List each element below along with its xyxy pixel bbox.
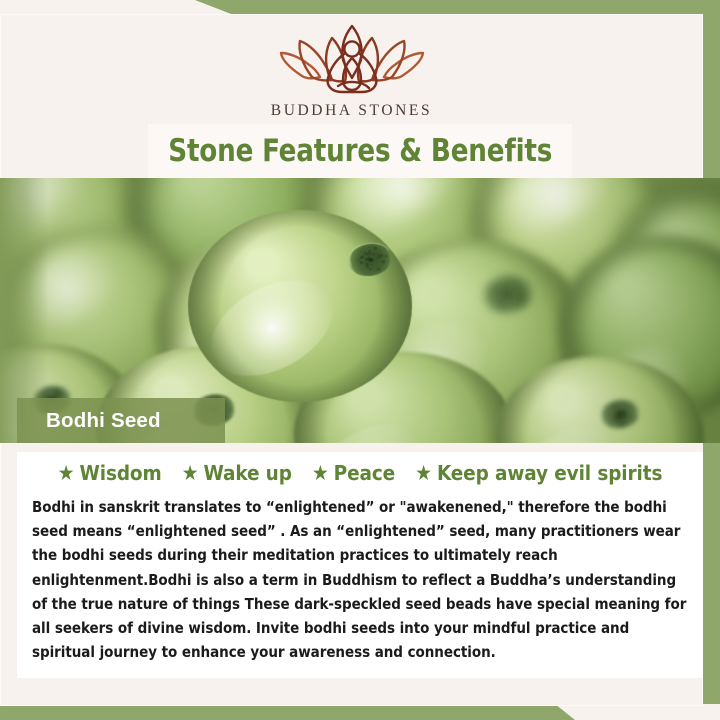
hero-caption-chip: Bodhi Seed — [17, 398, 225, 443]
page-title: Stone Features & Benefits — [168, 133, 552, 169]
star-icon: ★ — [312, 463, 329, 484]
benefit-label: Peace — [334, 461, 395, 485]
star-icon: ★ — [182, 463, 199, 484]
star-icon: ★ — [415, 463, 432, 484]
benefit-label: Keep away evil spirits — [437, 461, 662, 485]
star-icon: ★ — [58, 463, 75, 484]
panel-top-divider — [17, 443, 703, 452]
brand-name: BUDDHA STONES — [0, 102, 703, 120]
body-paragraph: Bodhi in sanskrit translates to “enlight… — [32, 495, 688, 664]
brand-logo-block: BUDDHA STONES — [0, 20, 703, 120]
hero-caption-label: Bodhi Seed — [46, 409, 161, 433]
poster-root: BUDDHA STONES Stone Features & Benefits … — [0, 0, 720, 720]
benefits-list: ★ Wisdom ★ Wake up ★ Peace ★ Keep away e… — [17, 461, 703, 485]
content-panel: ★ Wisdom ★ Wake up ★ Peace ★ Keep away e… — [17, 443, 703, 678]
benefit-label: Wake up — [203, 461, 291, 485]
list-item: ★ Keep away evil spirits — [415, 461, 662, 485]
list-item: ★ Wisdom — [58, 461, 162, 485]
list-item: ★ Peace — [312, 461, 395, 485]
lotus-meditation-figure-icon — [268, 20, 436, 98]
benefit-label: Wisdom — [79, 461, 161, 485]
list-item: ★ Wake up — [182, 461, 292, 485]
title-banner: Stone Features & Benefits — [148, 124, 572, 178]
